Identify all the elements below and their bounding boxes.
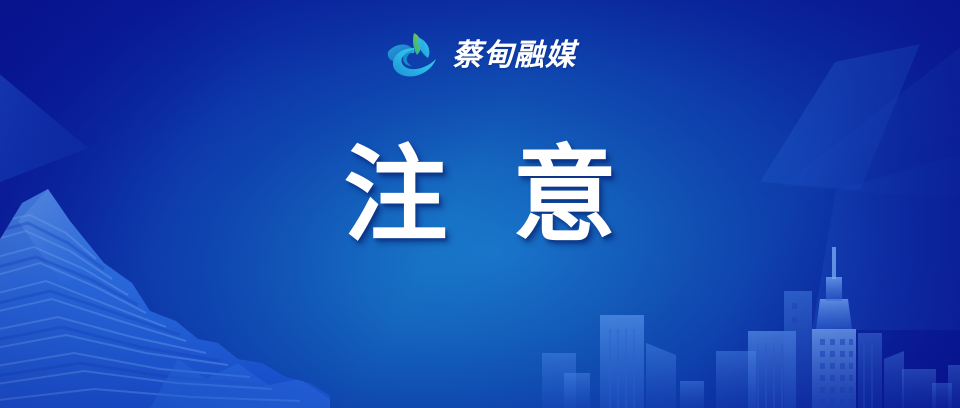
headline-container: 注 意 (0, 142, 960, 251)
brand-name: 蔡甸融媒 (452, 41, 576, 71)
headline-text: 注 意 (326, 142, 635, 251)
notice-banner: 蔡甸融媒 注 意 (0, 0, 960, 408)
brand-lockup: 蔡甸融媒 (0, 28, 960, 84)
caidian-rongmei-logo-icon (384, 28, 440, 84)
